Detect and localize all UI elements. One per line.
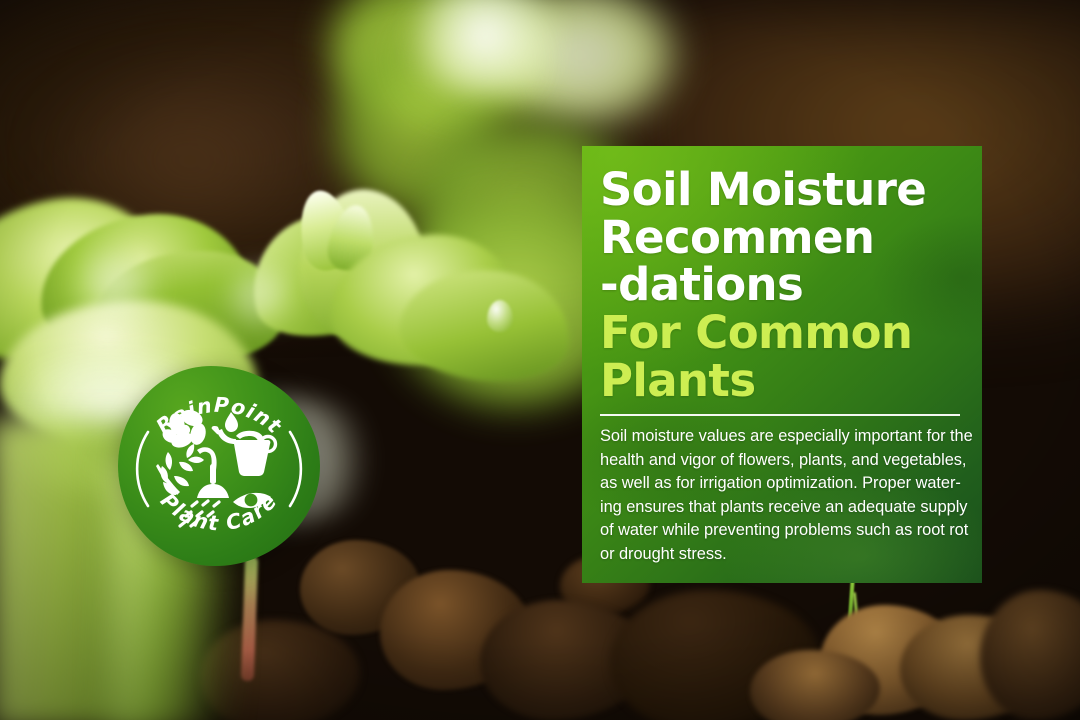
- headline-line-1: Soil Moisture: [600, 166, 962, 214]
- panel-body-text: Soil moisture values are especially impo…: [600, 425, 962, 566]
- body-line-6: or drought stress.: [600, 543, 962, 566]
- highlight-bloom: [60, 250, 170, 320]
- rainpoint-plant-care-badge[interactable]: RainPoint Plant Care: [118, 366, 320, 566]
- body-line-4: ing ensures that plants receive an adequ…: [600, 496, 962, 519]
- info-panel: Soil Moisture Recommen -dations For Comm…: [582, 146, 982, 583]
- badge-artwork: RainPoint Plant Care: [118, 366, 320, 566]
- headline-line-3: -dations: [600, 261, 962, 309]
- water-droplet: [487, 300, 513, 332]
- page-title: Soil Moisture Recommen -dations For Comm…: [600, 166, 962, 404]
- body-line-5: of water while preventing problems such …: [600, 519, 962, 542]
- body-line-2: health and vigor of flowers, plants, and…: [600, 449, 962, 472]
- info-panel-content: Soil Moisture Recommen -dations For Comm…: [582, 146, 982, 566]
- sprout-icon: [156, 452, 193, 495]
- body-line-1: Soil moisture values are especially impo…: [600, 425, 962, 448]
- badge-left-arc: [137, 432, 148, 506]
- headline-line-5: Plants: [600, 357, 962, 405]
- hero-banner: RainPoint Plant Care: [0, 0, 1080, 720]
- badge-right-arc: [290, 432, 301, 506]
- headline-line-4: For Common: [600, 309, 962, 357]
- headline-line-2: Recommen: [600, 214, 962, 262]
- title-divider: [600, 414, 960, 416]
- body-line-3: as well as for irrigation optimization. …: [600, 472, 962, 495]
- highlight-bloom: [215, 265, 305, 325]
